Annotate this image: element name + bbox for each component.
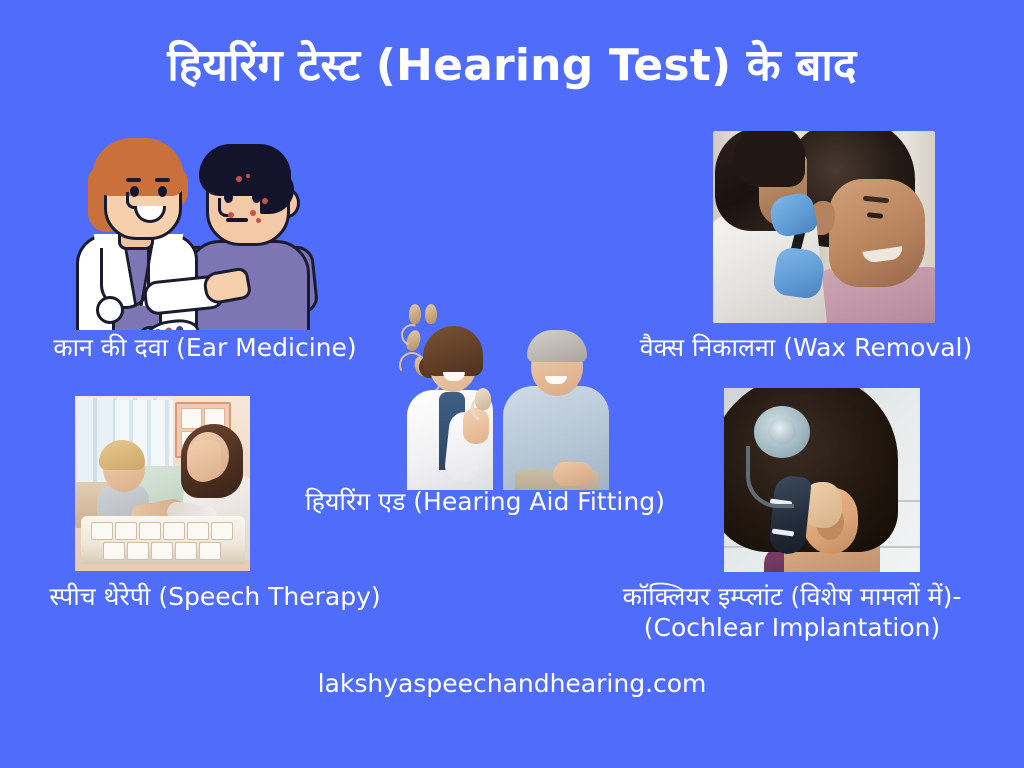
- doctor-brow-right: [155, 178, 170, 182]
- poster-cell: [181, 408, 202, 429]
- patient-mouth: [226, 218, 248, 222]
- pill: [176, 326, 184, 330]
- hearing-aid-tube-icon: [397, 320, 426, 349]
- patient-face: [829, 179, 925, 287]
- patient-skin-spot: [256, 218, 261, 223]
- pill: [154, 329, 162, 330]
- picture-card: [211, 522, 233, 540]
- picture-card: [115, 522, 137, 540]
- picture-card: [103, 542, 125, 560]
- hearing-aid-fitting-photo: [385, 300, 618, 490]
- ear-medicine-illustration: [60, 130, 345, 330]
- caption-ear-medicine: कान की दवा (Ear Medicine): [10, 332, 400, 363]
- caption-cochlear-implant-line1: कॉक्लियर इम्प्लांट (विशेष मामलों में)-: [560, 581, 1024, 612]
- patient-skin-spot: [228, 212, 234, 218]
- hearing-aid-icon: [409, 304, 421, 324]
- website-watermark: lakshyaspeechandhearing.com: [0, 668, 1024, 700]
- therapist-face: [187, 440, 221, 482]
- caption-wax-removal: वैक्स निकालना (Wax Removal): [606, 332, 1006, 363]
- patient-skin-spot: [250, 210, 256, 216]
- caption-cochlear-implant-line2: (Cochlear Implantation): [560, 612, 1024, 643]
- audiologist-hair: [423, 326, 483, 376]
- page-title: हियरिंग टेस्ट (Hearing Test) के बाद: [0, 38, 1024, 94]
- hearing-aid-icon: [425, 304, 437, 324]
- picture-card: [199, 542, 221, 560]
- picture-card: [163, 522, 185, 540]
- caption-cochlear-implant: कॉक्लियर इम्प्लांट (विशेष मामलों में)- (…: [560, 581, 1024, 643]
- picture-card: [91, 522, 113, 540]
- speech-therapy-photo: [75, 396, 250, 571]
- caption-hearing-aid-fitting: हियरिंग एड (Hearing Aid Fitting): [270, 486, 700, 517]
- clinician-hair: [733, 131, 805, 187]
- patient-eye-right: [252, 192, 261, 203]
- patient-hands: [553, 462, 593, 486]
- pill: [165, 327, 173, 330]
- patient-skin-spot: [262, 198, 268, 204]
- doctor-brow-left: [126, 178, 141, 182]
- cochlear-implant-coil-magnet: [768, 418, 796, 444]
- picture-card: [175, 542, 197, 560]
- patient-skin-spot: [236, 176, 242, 182]
- picture-card: [139, 522, 161, 540]
- poster-canvas: हियरिंग टेस्ट (Hearing Test) के बाद: [0, 0, 1024, 768]
- patient-hair: [527, 330, 587, 362]
- held-hearing-aid-icon: [475, 388, 491, 410]
- patient-skin-spot: [246, 174, 250, 178]
- stethoscope-bell-icon: [96, 296, 124, 324]
- picture-card: [151, 542, 173, 560]
- picture-card: [127, 542, 149, 560]
- doctor-eye-right: [158, 186, 167, 197]
- picture-card: [187, 522, 209, 540]
- caption-speech-therapy: स्पीच थेरेपी (Speech Therapy): [0, 581, 430, 612]
- wax-removal-photo: [713, 131, 935, 323]
- cochlear-implant-photo: [724, 388, 920, 572]
